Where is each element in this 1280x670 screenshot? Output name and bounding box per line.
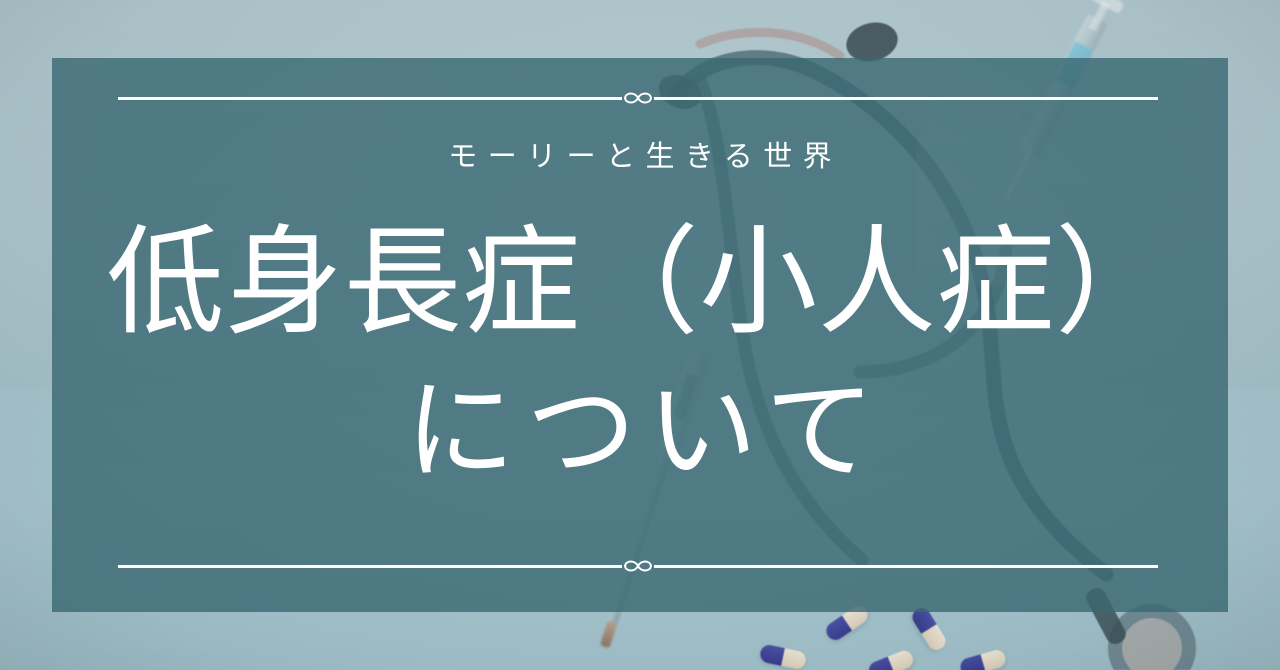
infinity-loop-ornament-icon (621, 556, 655, 576)
divider-line-left (118, 565, 622, 568)
infinity-loop-ornament-icon (621, 88, 655, 108)
divider-line-right (654, 97, 1158, 100)
banner-title-line-2: について (0, 362, 1280, 503)
banner-subtitle: モーリーと生きる世界 (0, 142, 1280, 174)
bottom-divider (118, 564, 1158, 568)
banner-title: 低身長症（小人症） について (0, 206, 1280, 503)
banner-title-line-1: 低身長症（小人症） (0, 206, 1280, 362)
divider-line-left (118, 97, 622, 100)
divider-line-right (654, 565, 1158, 568)
eyecatch-banner: モーリーと生きる世界 低身長症（小人症） について (0, 0, 1280, 670)
top-divider (118, 96, 1158, 100)
